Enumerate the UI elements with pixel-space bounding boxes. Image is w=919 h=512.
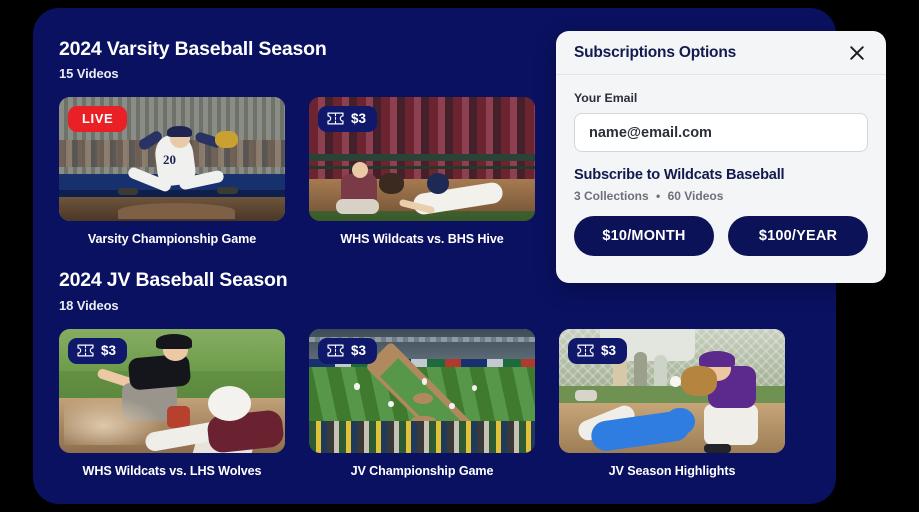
price-badge-label: $3 bbox=[101, 343, 116, 358]
email-input[interactable] bbox=[574, 113, 868, 152]
price-badge: $3 bbox=[68, 338, 127, 364]
panel-title: Subscriptions Options bbox=[574, 44, 736, 62]
video-thumbnail[interactable]: $3 bbox=[559, 329, 785, 453]
screen: 2024 Varsity Baseball Season 15 Videos bbox=[0, 0, 919, 512]
video-thumbnail[interactable]: $3 bbox=[309, 329, 535, 453]
video-caption: Varsity Championship Game bbox=[59, 232, 285, 246]
live-badge: LIVE bbox=[68, 106, 127, 132]
close-icon bbox=[849, 45, 865, 61]
video-thumbnail[interactable]: $3 bbox=[59, 329, 285, 453]
video-card[interactable]: 20 LIVE Varsity Championship Game bbox=[59, 97, 285, 246]
panel-header: Subscriptions Options bbox=[556, 31, 886, 75]
subscribe-monthly-button[interactable]: $10/MONTH bbox=[574, 216, 714, 256]
ticket-icon bbox=[327, 344, 344, 357]
video-card[interactable]: $3 WHS Wildcats vs. LHS Wolves bbox=[59, 329, 285, 478]
video-grid-jv: $3 WHS Wildcats vs. LHS Wolves bbox=[59, 329, 810, 478]
subscribe-title: Subscribe to Wildcats Baseball bbox=[574, 167, 868, 183]
ticket-icon bbox=[577, 344, 594, 357]
video-card[interactable]: $3 WHS Wildcats vs. BHS Hive bbox=[309, 97, 535, 246]
video-thumbnail[interactable]: 20 LIVE bbox=[59, 97, 285, 221]
video-caption: WHS Wildcats vs. LHS Wolves bbox=[59, 464, 285, 478]
price-badge: $3 bbox=[318, 106, 377, 132]
subscribe-yearly-button[interactable]: $100/YEAR bbox=[728, 216, 868, 256]
ticket-icon bbox=[77, 344, 94, 357]
subscriptions-options-panel: Subscriptions Options Your Email Subscri… bbox=[556, 31, 886, 283]
video-thumbnail[interactable]: $3 bbox=[309, 97, 535, 221]
section-video-count: 18 Videos bbox=[59, 298, 810, 313]
price-badge-label: $3 bbox=[351, 111, 366, 126]
video-caption: WHS Wildcats vs. BHS Hive bbox=[309, 232, 535, 246]
close-button[interactable] bbox=[846, 42, 868, 64]
video-caption: JV Championship Game bbox=[309, 464, 535, 478]
ticket-icon bbox=[327, 112, 344, 125]
collections-count: 3 Collections bbox=[574, 189, 649, 203]
price-badge-label: $3 bbox=[351, 343, 366, 358]
price-badge: $3 bbox=[318, 338, 377, 364]
price-badge: $3 bbox=[568, 338, 627, 364]
video-caption: JV Season Highlights bbox=[559, 464, 785, 478]
panel-body: Your Email Subscribe to Wildcats Basebal… bbox=[556, 75, 886, 256]
price-options: $10/MONTH $100/YEAR bbox=[574, 216, 868, 256]
season-section-jv: 2024 JV Baseball Season 18 Videos bbox=[59, 269, 810, 477]
videos-count: 60 Videos bbox=[668, 189, 724, 203]
video-card[interactable]: $3 JV Season Highlights bbox=[559, 329, 785, 478]
meta-separator: • bbox=[652, 189, 664, 203]
video-card[interactable]: $3 JV Championship Game bbox=[309, 329, 535, 478]
subscribe-meta: 3 Collections • 60 Videos bbox=[574, 189, 868, 203]
email-label: Your Email bbox=[574, 91, 868, 105]
price-badge-label: $3 bbox=[601, 343, 616, 358]
